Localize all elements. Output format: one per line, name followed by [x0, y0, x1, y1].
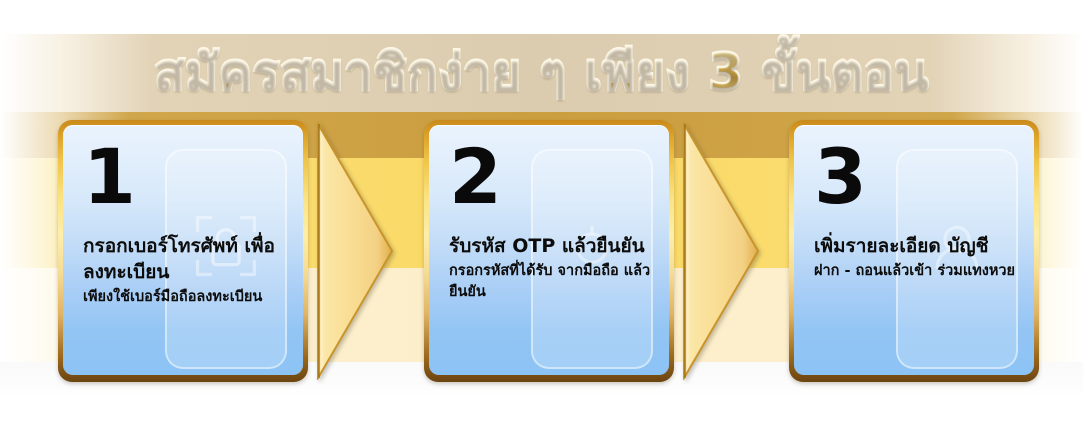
step-number-1: 1: [83, 131, 134, 223]
step-text-3: เพิ่มรายละเอียด บัญชี ฝาก - ถอนแล้วเข้า …: [814, 233, 1024, 282]
step-number-3: 3: [814, 131, 865, 223]
step-card-3[interactable]: 3 เพิ่มรายละเอียด บัญชี ฝาก - ถอนแล้วเข้…: [789, 120, 1039, 382]
step-card-2[interactable]: 2 รับรหัส OTP แล้วยืนยัน กรอกรหัสที่ได้ร…: [424, 120, 674, 382]
arrow-right-icon-1: [312, 122, 396, 380]
promo-banner: สมัครสมาชิกง่าย ๆ เพียง 3 ขั้นตอน: [0, 0, 1083, 425]
step-subtitle-3: ฝาก - ถอนแล้วเข้า ร่วมแทงหวย: [814, 261, 1024, 282]
headline-container: สมัครสมาชิกง่าย ๆ เพียง 3 ขั้นตอน: [0, 36, 1083, 108]
step-number-2: 2: [449, 131, 500, 223]
step-card-1[interactable]: 1 กรอกเบอร์โทรศัพท์ เพื่อลงทะเบียน เพียง…: [58, 120, 308, 382]
step-text-2: รับรหัส OTP แล้วยืนยัน กรอกรหัสที่ได้รับ…: [449, 233, 659, 303]
steps-row: 1 กรอกเบอร์โทรศัพท์ เพื่อลงทะเบียน เพียง…: [0, 120, 1083, 385]
step-card-3-inner: 3 เพิ่มรายละเอียด บัญชี ฝาก - ถอนแล้วเข้…: [794, 125, 1034, 375]
step-card-1-inner: 1 กรอกเบอร์โทรศัพท์ เพื่อลงทะเบียน เพียง…: [63, 125, 303, 375]
step-card-2-inner: 2 รับรหัส OTP แล้วยืนยัน กรอกรหัสที่ได้ร…: [429, 125, 669, 375]
step-title-2: รับรหัส OTP แล้วยืนยัน: [449, 233, 659, 259]
step-text-1: กรอกเบอร์โทรศัพท์ เพื่อลงทะเบียน เพียงใช…: [83, 233, 293, 308]
step-title-1: กรอกเบอร์โทรศัพท์ เพื่อลงทะเบียน: [83, 233, 293, 285]
step-subtitle-1: เพียงใช้เบอร์มือถือลงทะเบียน: [83, 287, 293, 308]
step-title-3: เพิ่มรายละเอียด บัญชี: [814, 233, 1024, 259]
arrow-right-icon-2: [678, 122, 762, 380]
page-title: สมัครสมาชิกง่าย ๆ เพียง 3 ขั้นตอน: [154, 36, 929, 108]
step-subtitle-2: กรอกรหัสที่ได้รับ จากมือถือ แล้วยืนยัน: [449, 261, 659, 303]
